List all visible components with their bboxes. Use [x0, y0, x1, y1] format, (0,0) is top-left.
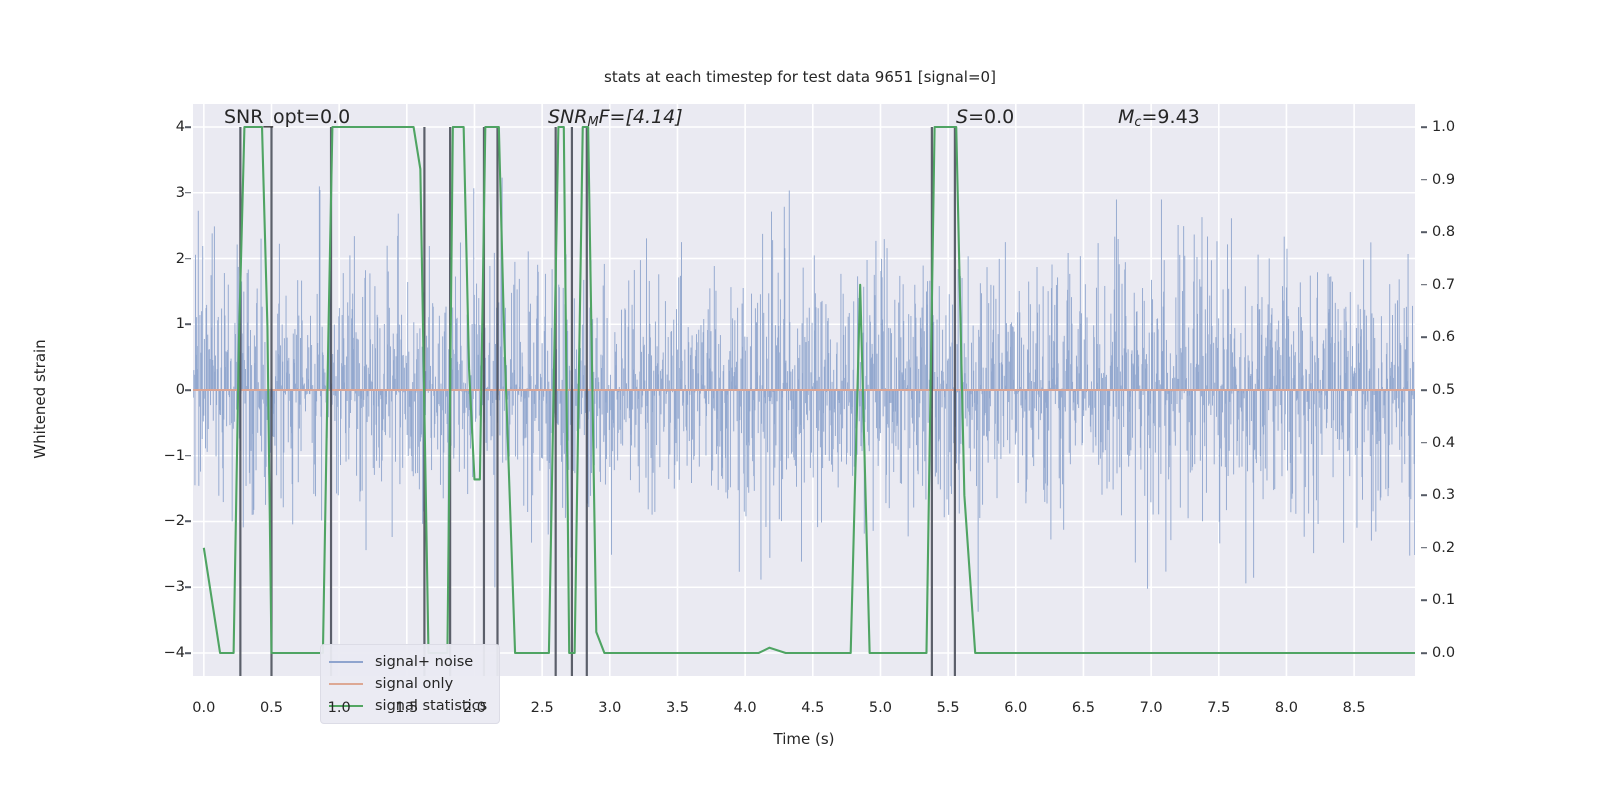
annotation-mc-sub: c	[1134, 115, 1141, 130]
annotation-s-suffix: =0.0	[968, 106, 1014, 128]
y-tick-label-right: 0.5	[1432, 382, 1455, 398]
y-tick-label-right: 0.0	[1432, 645, 1455, 661]
y-tick-label-left: 2	[176, 251, 185, 267]
signal-noise-series	[193, 178, 1414, 612]
y-tick-mark-left	[185, 521, 191, 523]
annotation-snr-mf-sub: M	[587, 115, 598, 130]
legend-label-signal-only: signal only	[375, 676, 453, 692]
y-tick-label-left: −1	[164, 448, 185, 464]
x-tick-label: 8.5	[1343, 700, 1366, 716]
y-tick-mark-left	[185, 126, 191, 128]
y-tick-mark-right	[1421, 389, 1427, 391]
y-tick-label-right: 1.0	[1432, 119, 1455, 135]
legend-swatch-signal-noise	[329, 661, 363, 663]
y-axis-label-left: Whitened strain	[31, 249, 49, 549]
y-tick-mark-right	[1421, 179, 1427, 181]
x-tick-label: 2.5	[531, 700, 554, 716]
x-tick-label: 8.0	[1275, 700, 1298, 716]
x-tick-label: 7.5	[1207, 700, 1230, 716]
y-tick-mark-right	[1421, 231, 1427, 233]
y-tick-mark-left	[185, 389, 191, 391]
y-tick-mark-left	[185, 192, 191, 194]
plot-svg	[193, 104, 1415, 676]
annotation-s-prefix: S	[956, 106, 968, 128]
y-tick-mark-left	[185, 323, 191, 325]
x-tick-label: 6.5	[1072, 700, 1095, 716]
y-tick-mark-right	[1421, 494, 1427, 496]
x-axis-label: Time (s)	[193, 730, 1415, 748]
y-tick-mark-right	[1421, 126, 1427, 128]
y-tick-mark-right	[1421, 600, 1427, 602]
y-tick-mark-left	[185, 455, 191, 457]
y-tick-mark-right	[1421, 547, 1427, 549]
x-tick-label: 7.0	[1140, 700, 1163, 716]
x-tick-label: 4.5	[801, 700, 824, 716]
x-tick-label: 1.0	[328, 700, 351, 716]
legend-swatch-signal-only	[329, 683, 363, 685]
y-tick-mark-right	[1421, 652, 1427, 654]
x-tick-label: 2.0	[463, 700, 486, 716]
annotation-mc-suffix: =9.43	[1142, 106, 1200, 128]
x-tick-label: 6.0	[1004, 700, 1027, 716]
y-tick-mark-left	[185, 586, 191, 588]
y-tick-label-left: 4	[176, 119, 185, 135]
y-tick-label-right: 0.3	[1432, 487, 1455, 503]
y-tick-label-left: 0	[176, 382, 185, 398]
x-tick-label: 0.5	[260, 700, 283, 716]
annotation-snr-mf: SNRMF=[4.14]	[548, 108, 683, 130]
annotation-mc: Mc=9.43	[1118, 108, 1200, 130]
x-tick-label: 5.0	[869, 700, 892, 716]
y-tick-label-right: 0.8	[1432, 224, 1455, 240]
plot-area: SNR_opt=0.0 SNRMF=[4.14] S=0.0 Mc=9.43	[193, 104, 1415, 676]
legend-item-signal-only: signal only	[329, 673, 487, 695]
y-tick-label-right: 0.2	[1432, 540, 1455, 556]
annotation-snr-mf-prefix: SNR	[548, 106, 587, 128]
legend-label-signal-noise: signal+ noise	[375, 654, 473, 670]
y-tick-label-left: 1	[176, 316, 185, 332]
annotation-snr-opt: SNR_opt=0.0	[224, 108, 350, 127]
y-tick-label-right: 0.6	[1432, 329, 1455, 345]
y-tick-label-left: 3	[176, 185, 185, 201]
figure: stats at each timestep for test data 965…	[0, 0, 1600, 800]
x-tick-label: 3.0	[598, 700, 621, 716]
y-tick-label-right: 0.4	[1432, 435, 1455, 451]
y-tick-label-right: 0.9	[1432, 172, 1455, 188]
y-tick-label-left: −3	[164, 579, 185, 595]
x-tick-label: 5.5	[937, 700, 960, 716]
y-tick-label-left: −4	[164, 645, 185, 661]
y-tick-mark-right	[1421, 337, 1427, 339]
y-tick-mark-right	[1421, 284, 1427, 286]
x-tick-label: 0.0	[192, 700, 215, 716]
y-tick-mark-left	[185, 652, 191, 654]
annotation-mc-prefix: M	[1118, 106, 1134, 128]
legend-item-signal-noise: signal+ noise	[329, 651, 487, 673]
y-tick-mark-left	[185, 258, 191, 260]
y-tick-label-right: 0.7	[1432, 277, 1455, 293]
x-tick-label: 3.5	[666, 700, 689, 716]
chart-title: stats at each timestep for test data 965…	[0, 68, 1600, 86]
x-tick-label: 1.5	[395, 700, 418, 716]
y-tick-label-left: −2	[164, 513, 185, 529]
y-tick-label-right: 0.1	[1432, 592, 1455, 608]
annotation-s: S=0.0	[956, 108, 1014, 127]
annotation-snr-mf-suffix: F=[4.14]	[599, 106, 683, 128]
x-tick-label: 4.0	[734, 700, 757, 716]
y-tick-mark-right	[1421, 442, 1427, 444]
